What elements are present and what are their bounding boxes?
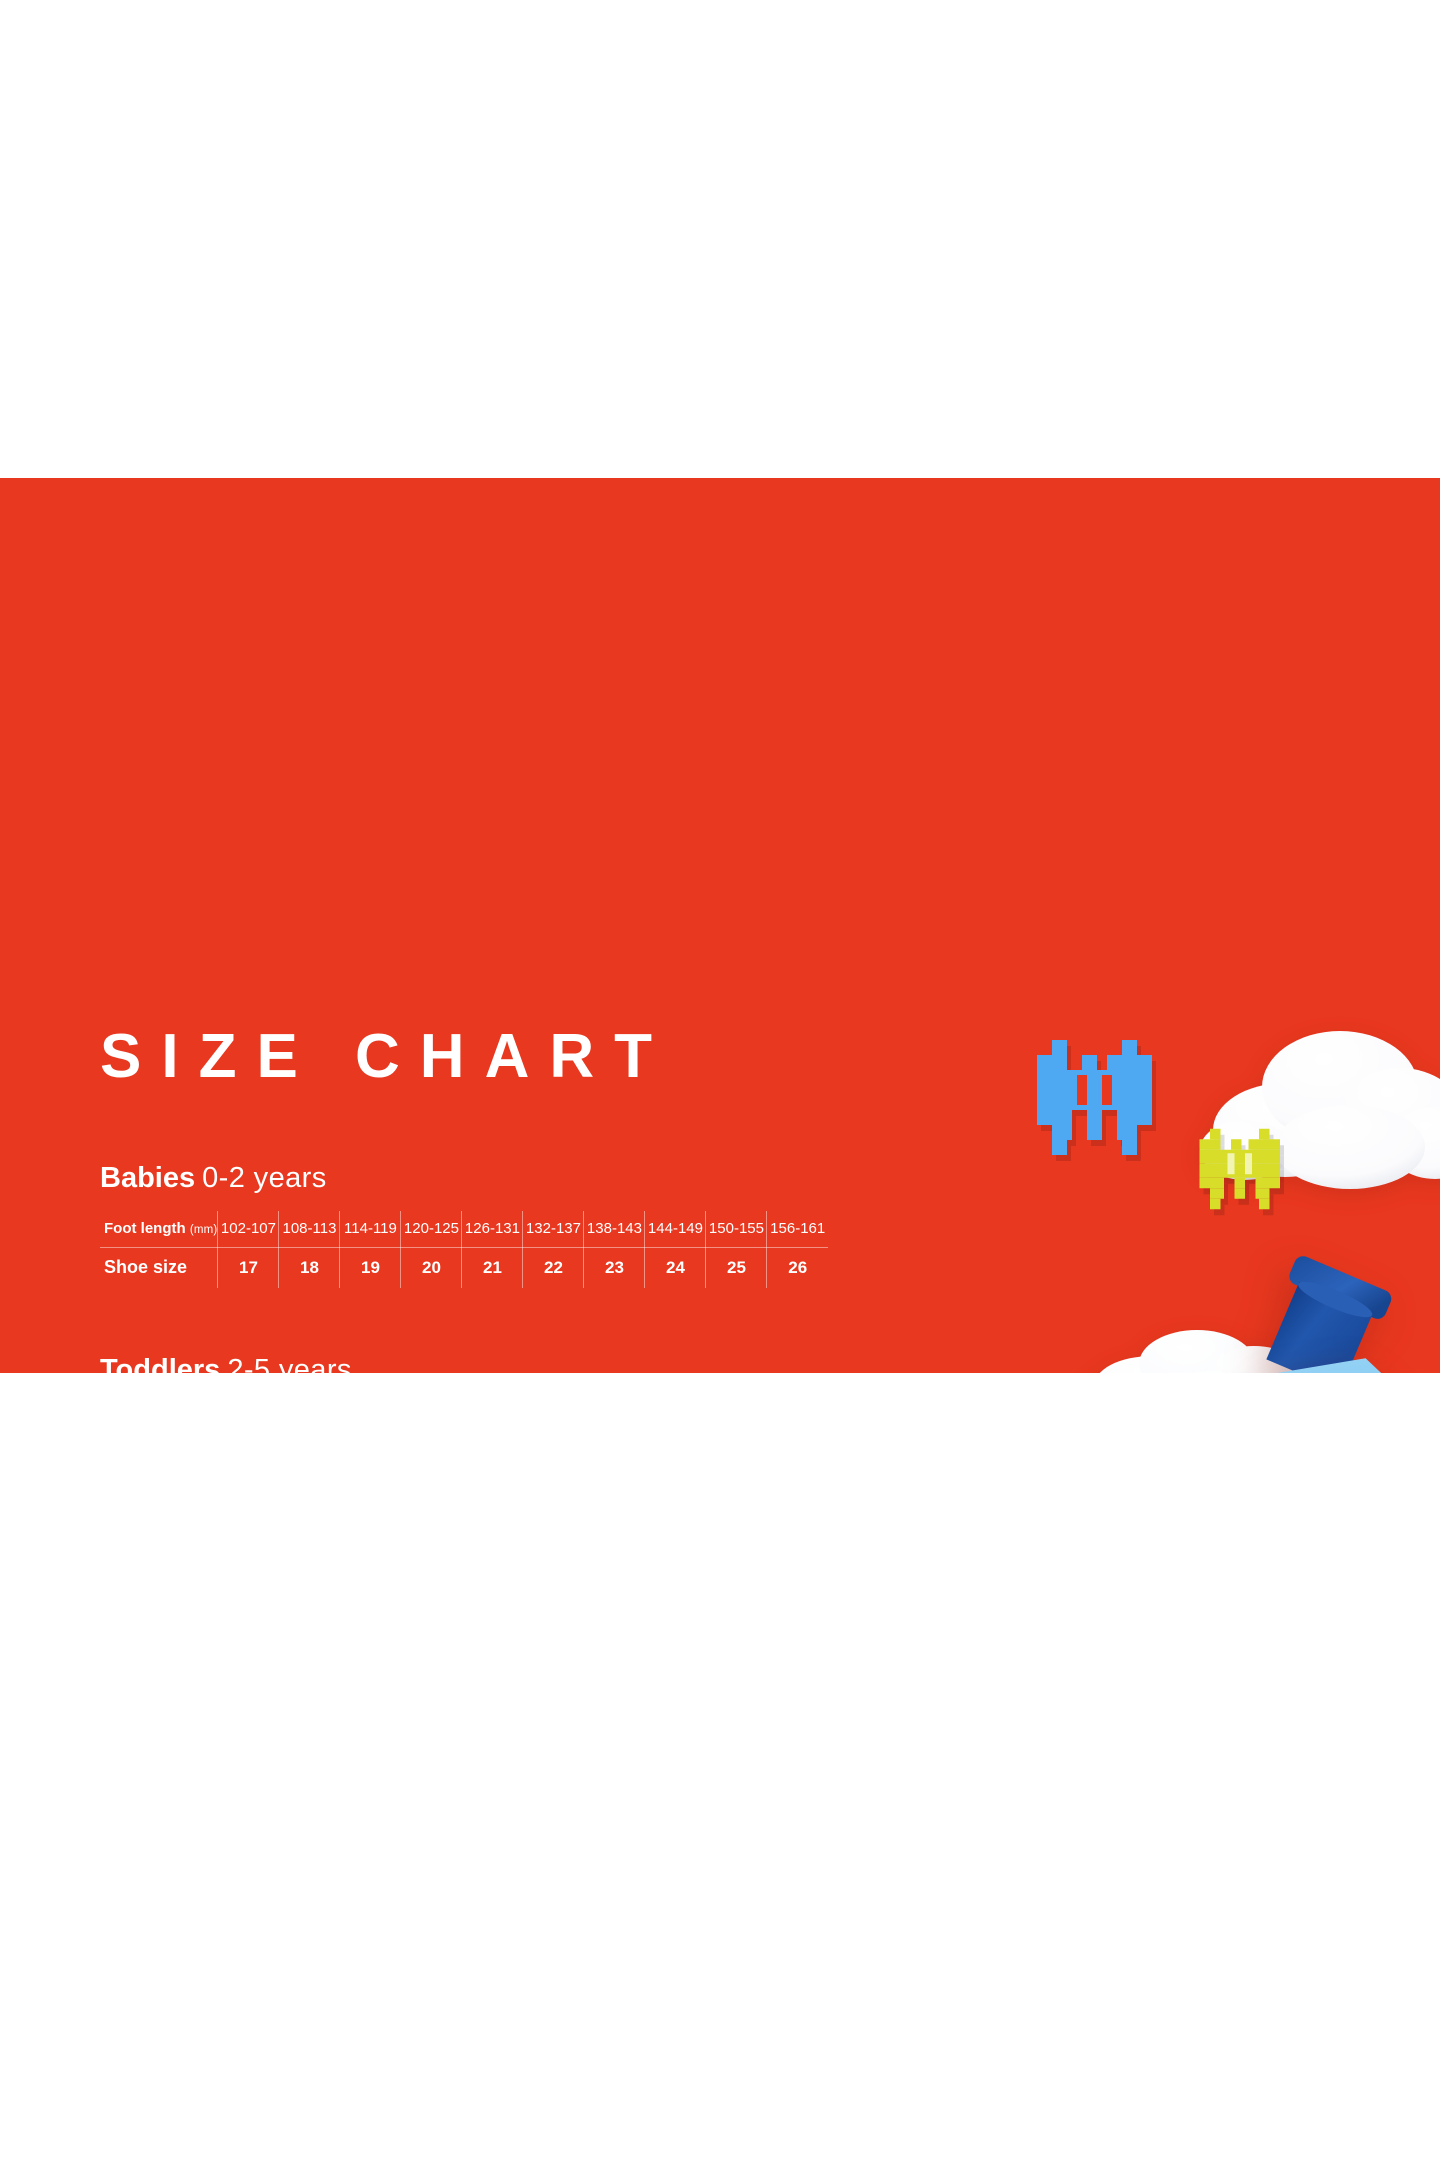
cell-shoe-size: 19 (340, 1247, 401, 1288)
section-babies: Babies0-2 years Foot length (mm) 102-107… (100, 1163, 828, 1288)
cell-foot-length: 108-113 (279, 1211, 340, 1248)
cloud-top-shape (1190, 1015, 1440, 1205)
cell-shoe-size: 24 (645, 1247, 706, 1288)
size-table-babies: Foot length (mm) 102-107 108-113 114-119… (100, 1211, 828, 1288)
cell-shoe-size: 18 (279, 1247, 340, 1288)
section-heading-babies: Babies0-2 years (100, 1163, 828, 1195)
row-label-shoe-size: Shoe size (100, 1247, 218, 1288)
cell-foot-length: 144-149 (645, 1211, 706, 1248)
blue-cube-shape (1232, 1344, 1440, 1373)
cell-foot-length: 138-143 (584, 1211, 645, 1248)
invader-yellow-icon (1196, 1124, 1294, 1214)
table-row-foot-length: Foot length (mm) 102-107 108-113 114-119… (100, 1211, 828, 1248)
cell-foot-length: 114-119 (340, 1211, 401, 1248)
page-title: SIZE CHART (100, 1026, 672, 1088)
section-group-name: Toddlers (100, 1354, 220, 1373)
cell-foot-length: 120-125 (401, 1211, 462, 1248)
cell-foot-length: 156-161 (767, 1211, 828, 1248)
cell-foot-length: 126-131 (462, 1211, 523, 1248)
cell-shoe-size: 21 (462, 1247, 523, 1288)
section-group-name: Babies (100, 1162, 195, 1194)
foot-length-unit: (mm) (190, 1224, 218, 1236)
row-label-foot-length: Foot length (mm) (100, 1211, 218, 1248)
invader-blue-icon (1032, 1035, 1172, 1160)
blue-cylinder-shape (1222, 1250, 1412, 1373)
cell-foot-length: 102-107 (218, 1211, 279, 1248)
cell-shoe-size: 17 (218, 1247, 279, 1288)
cell-shoe-size: 26 (767, 1247, 828, 1288)
cloud-bottom-shape (1082, 1316, 1332, 1373)
section-age-range: 0-2 years (202, 1162, 327, 1194)
page-canvas: SIZE CHART Babies0-2 years Foot length (… (0, 0, 1440, 2160)
cell-shoe-size: 20 (401, 1247, 462, 1288)
section-toddlers: Toddlers2-5 years Foot length (mm) 162-1… (100, 1355, 767, 1373)
section-age-range: 2-5 years (227, 1354, 352, 1373)
size-chart-poster: SIZE CHART Babies0-2 years Foot length (… (0, 478, 1440, 1373)
cell-shoe-size: 25 (706, 1247, 767, 1288)
cell-shoe-size: 22 (523, 1247, 584, 1288)
cell-foot-length: 150-155 (706, 1211, 767, 1248)
table-row-shoe-size: Shoe size 17 18 19 20 21 22 23 24 25 26 (100, 1247, 828, 1288)
cell-foot-length: 132-137 (523, 1211, 584, 1248)
section-heading-toddlers: Toddlers2-5 years (100, 1355, 767, 1373)
foot-length-label-text: Foot length (104, 1220, 186, 1237)
cell-shoe-size: 23 (584, 1247, 645, 1288)
